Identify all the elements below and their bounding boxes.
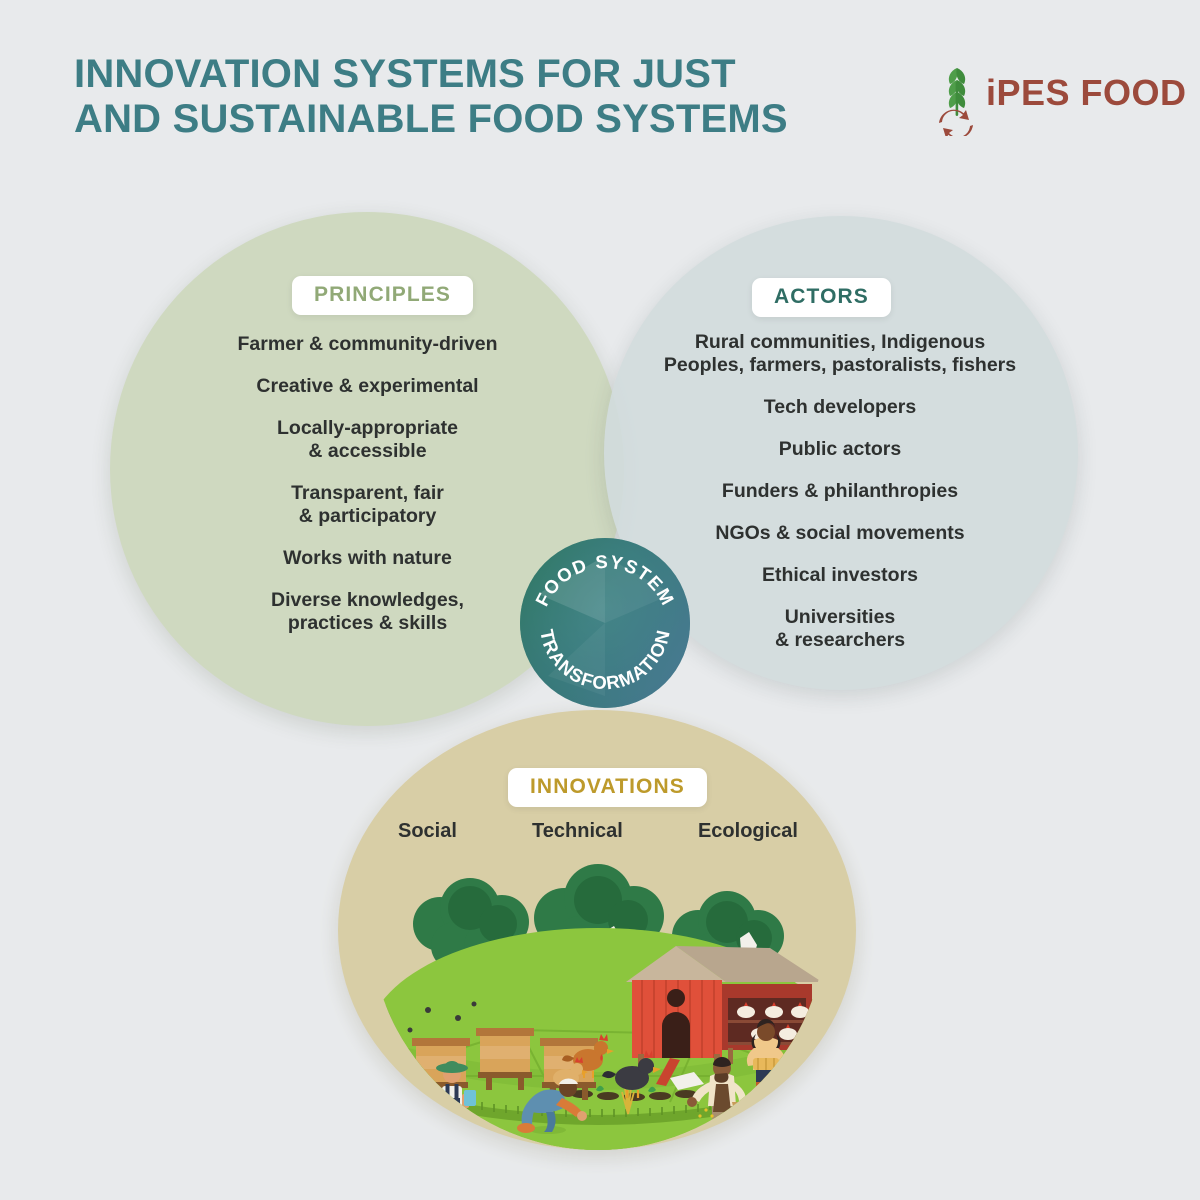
list-item: Works with nature: [175, 547, 560, 570]
actors-label-badge[interactable]: ACTORS: [752, 278, 891, 317]
list-item: Transparent, fair & participatory: [175, 482, 560, 528]
list-item: Locally-appropriate & accessible: [175, 417, 560, 463]
principles-label-badge[interactable]: PRINCIPLES: [292, 276, 473, 315]
ipes-food-logo[interactable]: iPES FOOD: [930, 58, 1145, 140]
list-item: Ecological: [698, 820, 798, 843]
page-title: INNOVATION SYSTEMS FOR JUST AND SUSTAINA…: [74, 52, 894, 142]
list-item: Farmer & community-driven: [175, 333, 560, 356]
food-system-transformation-badge[interactable]: FOOD SYSTEM TRANSFORMATION: [518, 536, 692, 710]
infographic-canvas: INNOVATION SYSTEMS FOR JUST AND SUSTAINA…: [0, 0, 1200, 1200]
list-item: Tech developers: [640, 396, 1040, 419]
list-item: Universities & researchers: [640, 606, 1040, 652]
actors-list: Rural communities, Indigenous Peoples, f…: [640, 331, 1040, 671]
list-item: Creative & experimental: [175, 375, 560, 398]
list-item: Diverse knowledges, practices & skills: [175, 589, 560, 635]
page-title-line-2: AND SUSTAINABLE FOOD SYSTEMS: [74, 97, 894, 142]
innovations-list: Social Technical Ecological: [398, 820, 798, 843]
list-item: Technical: [532, 820, 623, 843]
list-item: Public actors: [640, 438, 1040, 461]
principles-list: Farmer & community-driven Creative & exp…: [175, 333, 560, 654]
innovations-label-badge[interactable]: INNOVATIONS: [508, 768, 707, 807]
wheat-and-cycle-icon: [930, 62, 986, 136]
logo-wordmark: iPES FOOD: [986, 72, 1187, 114]
list-item: Ethical investors: [640, 564, 1040, 587]
page-title-line-1: INNOVATION SYSTEMS FOR JUST: [74, 52, 894, 97]
agroecological-farm-illustration: [370, 862, 826, 1152]
list-item: Rural communities, Indigenous Peoples, f…: [640, 331, 1040, 377]
list-item: NGOs & social movements: [640, 522, 1040, 545]
list-item: Funders & philanthropies: [640, 480, 1040, 503]
list-item: Social: [398, 820, 457, 843]
